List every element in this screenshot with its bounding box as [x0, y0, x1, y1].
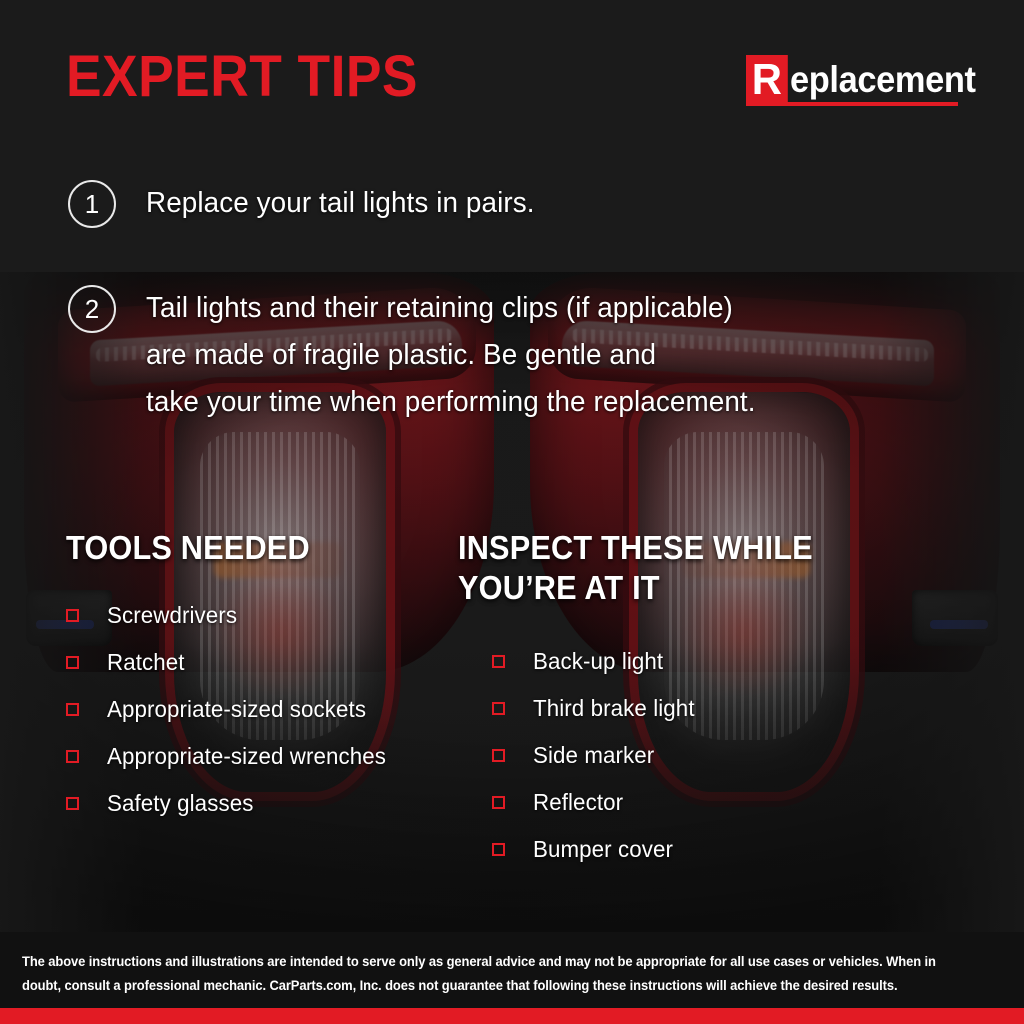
checkbox-icon [66, 609, 79, 622]
checkbox-icon [492, 749, 505, 762]
list-item: Bumper cover [492, 836, 700, 862]
tip-number-badge-2: 2 [68, 285, 116, 333]
list-item-label: Appropriate-sized wrenches [107, 743, 386, 769]
list-item-label: Screwdrivers [107, 602, 237, 628]
footer-accent-bar [0, 1008, 1024, 1024]
logo-initial: R [746, 55, 788, 105]
list-item: Reflector [492, 789, 700, 815]
checkbox-icon [66, 656, 79, 669]
list-item: Third brake light [492, 695, 700, 721]
tip-text-2: Tail lights and their retaining clips (i… [146, 285, 756, 426]
list-item: Appropriate-sized wrenches [66, 743, 395, 769]
list-item-label: Appropriate-sized sockets [107, 696, 366, 722]
list-item-label: Reflector [533, 789, 623, 815]
disclaimer-text: The above instructions and illustrations… [22, 950, 963, 998]
list-item: Side marker [492, 742, 700, 768]
checkbox-icon [492, 843, 505, 856]
list-item-label: Third brake light [533, 695, 695, 721]
logo-wordmark: eplacement [790, 55, 976, 105]
checkbox-icon [66, 703, 79, 716]
page-title: EXPERT TIPS [66, 48, 418, 106]
list-item: Appropriate-sized sockets [66, 696, 395, 722]
list-item: Safety glasses [66, 790, 395, 816]
list-item-label: Ratchet [107, 649, 185, 675]
tools-needed-list: Screwdrivers Ratchet Appropriate-sized s… [66, 602, 395, 837]
list-item: Screwdrivers [66, 602, 395, 628]
tip-number-badge-1: 1 [68, 180, 116, 228]
checkbox-icon [66, 750, 79, 763]
inspect-these-list: Back-up light Third brake light Side mar… [492, 648, 700, 883]
list-item: Back-up light [492, 648, 700, 674]
list-item-label: Bumper cover [533, 836, 673, 862]
list-item: Ratchet [66, 649, 395, 675]
inspect-these-heading: INSPECT THESE WHILE YOU’RE AT IT [458, 528, 813, 608]
checkbox-icon [492, 702, 505, 715]
tools-needed-heading: TOOLS NEEDED [66, 528, 310, 568]
list-item-label: Back-up light [533, 648, 663, 674]
tip-item-2: 2 Tail lights and their retaining clips … [68, 285, 781, 426]
list-item-label: Safety glasses [107, 790, 253, 816]
list-item-label: Side marker [533, 742, 654, 768]
footer-disclaimer: The above instructions and illustrations… [0, 932, 1024, 1008]
checkbox-icon [492, 796, 505, 809]
checkbox-icon [492, 655, 505, 668]
tip-text-1: Replace your tail lights in pairs. [146, 180, 535, 227]
tip-item-1: 1 Replace your tail lights in pairs. [68, 180, 551, 228]
logo-underline [746, 102, 958, 106]
checkbox-icon [66, 797, 79, 810]
